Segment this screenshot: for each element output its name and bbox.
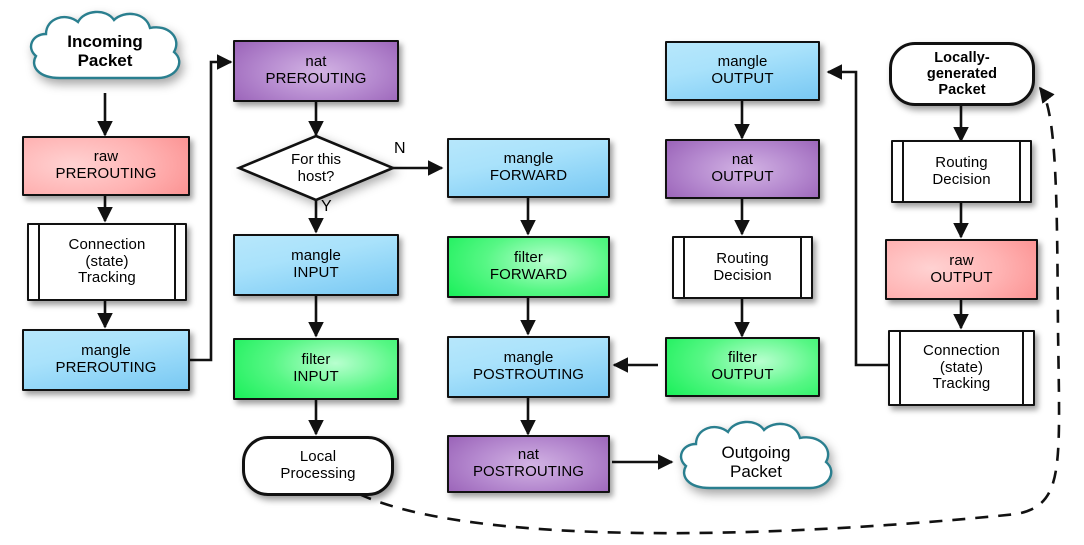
node-label-line1: Connection	[923, 343, 1000, 360]
node-label-line2: host?	[298, 168, 335, 185]
edge-mangle-prerouting-to-nat-prerouting	[190, 62, 231, 360]
node-label-line2: Packet	[730, 462, 782, 481]
node-label-line2: POSTROUTING	[473, 464, 584, 481]
node-label-line1: For this	[291, 151, 341, 168]
node-connection-tracking-inbound: Connection (state) Tracking	[27, 223, 187, 301]
node-label-line1: Locally-	[934, 50, 990, 66]
node-label-line2: POSTROUTING	[473, 367, 584, 384]
node-label-line1: filter	[514, 250, 543, 267]
node-outgoing-packet: Outgoing Packet	[672, 420, 840, 506]
node-label-line2: PREROUTING	[265, 71, 366, 88]
node-label-line1: mangle	[504, 350, 554, 367]
edge-label-no: N	[394, 140, 406, 158]
node-raw-prerouting: raw PREROUTING	[22, 136, 190, 196]
node-label-line2: Packet	[78, 51, 133, 70]
node-label-line2: OUTPUT	[711, 169, 773, 186]
node-mangle-forward: mangle FORWARD	[447, 138, 610, 198]
node-filter-output: filter OUTPUT	[665, 337, 820, 397]
node-label-line1: Routing	[716, 251, 768, 268]
node-label-line1: mangle	[718, 54, 768, 71]
edge-label-yes: Y	[321, 198, 332, 216]
node-label-line1: mangle	[81, 343, 131, 360]
edge-conntrack-out-to-mangle-output	[828, 72, 906, 365]
node-label-line2: FORWARD	[490, 267, 567, 284]
node-label-line2: Decision	[713, 268, 771, 285]
node-label-line3: Packet	[938, 82, 985, 98]
node-nat-prerouting: nat PREROUTING	[233, 40, 399, 102]
node-label-line1: mangle	[504, 151, 554, 168]
node-label-line2: OUTPUT	[711, 71, 773, 88]
node-label-line1: raw	[949, 253, 973, 270]
node-mangle-prerouting: mangle PREROUTING	[22, 329, 190, 391]
node-filter-input: filter INPUT	[233, 338, 399, 400]
node-label-line2: OUTPUT	[711, 367, 773, 384]
node-label-line2: Processing	[280, 466, 355, 483]
node-label-line2: PREROUTING	[55, 166, 156, 183]
node-label-line2: (state)	[940, 360, 983, 377]
node-locally-generated-packet: Locally- generated Packet	[889, 42, 1035, 106]
node-mangle-output: mangle OUTPUT	[665, 41, 820, 101]
node-routing-decision-generated: Routing Decision	[891, 140, 1032, 203]
node-label-line2: INPUT	[293, 369, 339, 386]
node-label-line1: Incoming	[67, 32, 143, 51]
node-mangle-input: mangle INPUT	[233, 234, 399, 296]
node-label-line1: nat	[518, 447, 539, 464]
node-label-line1: Local	[300, 449, 336, 466]
node-label-line1: Routing	[935, 155, 987, 172]
node-label-line3: Tracking	[933, 376, 991, 393]
node-raw-output: raw OUTPUT	[885, 239, 1038, 300]
node-incoming-packet: Incoming Packet	[22, 8, 188, 96]
node-label-line2: generated	[927, 66, 997, 82]
flowchart-canvas: Incoming Packet Outgoing Packet raw PRER…	[0, 0, 1084, 545]
node-nat-output: nat OUTPUT	[665, 139, 820, 199]
node-label-line1: Connection	[69, 237, 146, 254]
node-label-line2: FORWARD	[490, 168, 567, 185]
node-label-line1: nat	[732, 152, 753, 169]
node-label-line1: Outgoing	[722, 443, 791, 462]
node-nat-postrouting: nat POSTROUTING	[447, 435, 610, 493]
node-label-line1: filter	[728, 350, 757, 367]
node-label-line1: mangle	[291, 248, 341, 265]
node-filter-forward: filter FORWARD	[447, 236, 610, 298]
node-local-processing: Local Processing	[242, 436, 394, 496]
node-label-line2: INPUT	[293, 265, 339, 282]
node-label-line2: (state)	[85, 254, 128, 271]
node-for-this-host-decision: For this host?	[236, 134, 396, 202]
node-label-line2: PREROUTING	[55, 360, 156, 377]
node-label-line2: Decision	[932, 172, 990, 189]
node-label-line1: nat	[305, 54, 326, 71]
node-label-line3: Tracking	[78, 270, 136, 287]
node-routing-decision-output: Routing Decision	[672, 236, 813, 299]
node-mangle-postrouting: mangle POSTROUTING	[447, 336, 610, 398]
node-label-line1: filter	[302, 352, 331, 369]
node-label-line1: raw	[94, 149, 118, 166]
node-label-line2: OUTPUT	[930, 270, 992, 287]
node-connection-tracking-outbound: Connection (state) Tracking	[888, 330, 1035, 406]
